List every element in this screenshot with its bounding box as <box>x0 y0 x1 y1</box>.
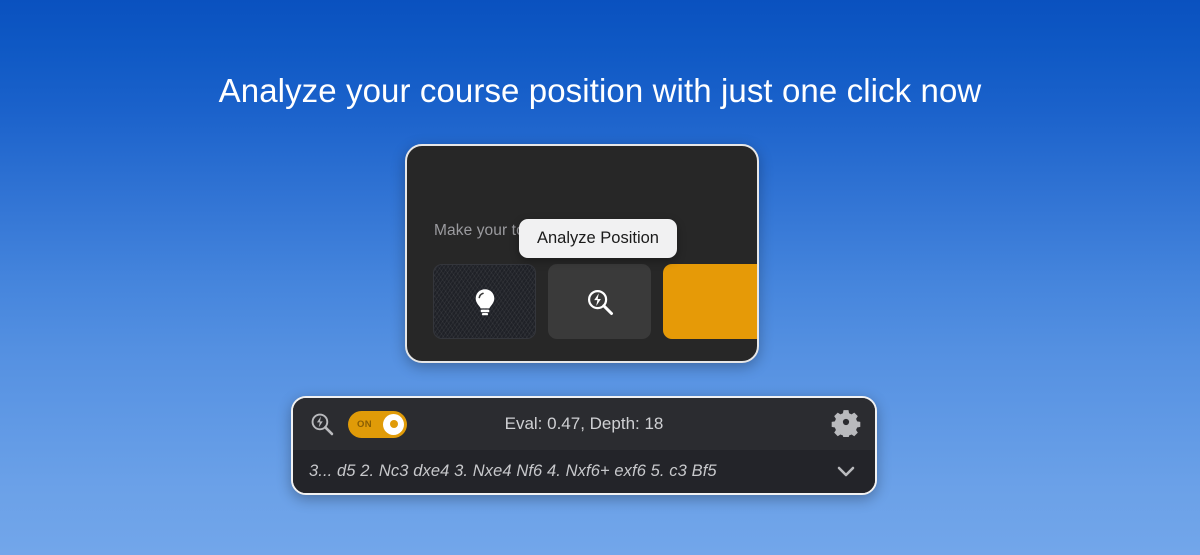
engine-bar: ON Eval: 0.47, Depth: 18 3... d5 2. Nc3 … <box>291 396 877 495</box>
gear-icon[interactable] <box>831 407 861 437</box>
magnifier-lightning-icon[interactable] <box>309 411 335 437</box>
page-headline: Analyze your course position with just o… <box>0 72 1200 110</box>
engine-moves-line: 3... d5 2. Nc3 dxe4 3. Nxe4 Nf6 4. Nxf6+… <box>309 462 717 481</box>
magnifier-lightning-icon <box>585 287 615 317</box>
lightbulb-icon <box>472 287 498 317</box>
hint-button[interactable] <box>433 264 536 339</box>
engine-toggle-knob <box>383 414 404 435</box>
engine-bar-top-row: ON Eval: 0.47, Depth: 18 <box>293 398 875 450</box>
engine-toggle[interactable]: ON <box>348 411 407 438</box>
engine-bar-bottom-row: 3... d5 2. Nc3 dxe4 3. Nxe4 Nf6 4. Nxf6+… <box>293 450 875 493</box>
analyze-position-button[interactable] <box>548 264 651 339</box>
engine-toggle-label: ON <box>357 419 372 430</box>
analyze-position-tooltip: Analyze Position <box>519 219 677 258</box>
card-button-row <box>433 264 759 339</box>
primary-action-button[interactable] <box>663 264 759 339</box>
chevron-down-icon[interactable] <box>833 458 859 484</box>
page-background: Analyze your course position with just o… <box>0 0 1200 555</box>
